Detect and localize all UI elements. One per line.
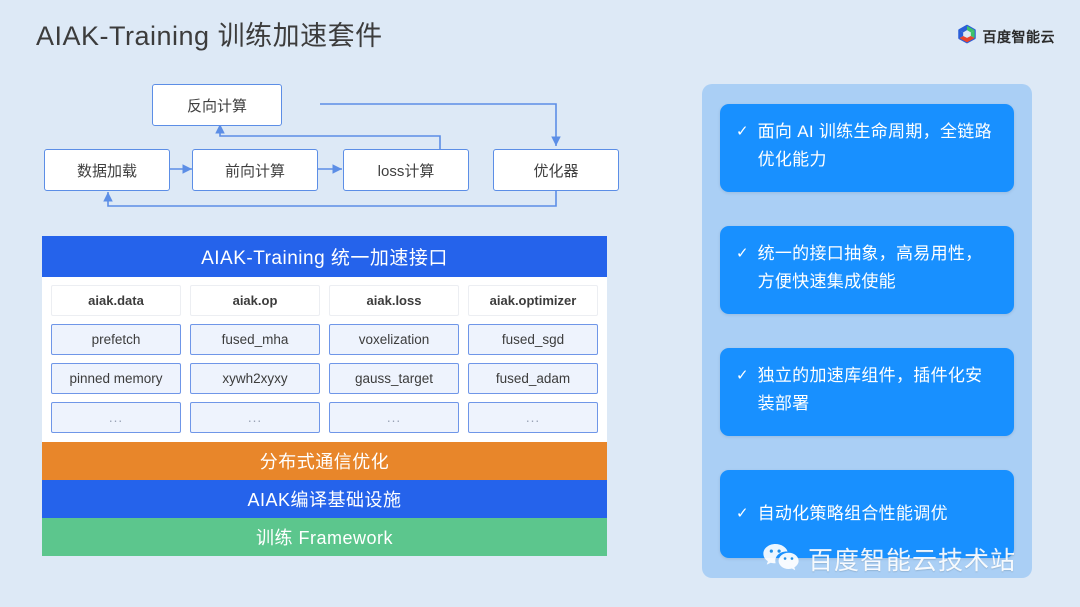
module-cell[interactable]: fused_adam [468,363,598,394]
stack-bar-label: AIAK-Training 统一加速接口 [201,243,448,270]
feature-panel: ✓ 面向 AI 训练生命周期，全链路优化能力 ✓ 统一的接口抽象，高易用性，方便… [702,84,1032,578]
stack-bar-label: AIAK编译基础设施 [247,486,401,512]
table-row: pinned memory xywh2xyxy gauss_target fus… [51,363,598,394]
column-header-aiak-loss: aiak.loss [329,285,459,316]
page-title: AIAK-Training 训练加速套件 [36,14,383,53]
module-cell[interactable]: fused_mha [190,324,320,355]
module-label: prefetch [92,332,141,347]
column-header-label: aiak.loss [367,293,422,308]
flow-box-label: loss计算 [378,160,435,181]
flow-box-loss: loss计算 [343,149,469,191]
baidu-cloud-hexagon-icon [957,24,977,49]
table-header-row: aiak.data aiak.op aiak.loss aiak.optimiz… [51,285,598,316]
brand-logo: 百度智能云 [957,24,1056,49]
column-header-aiak-op: aiak.op [190,285,320,316]
table-row: prefetch fused_mha voxelization fused_sg… [51,324,598,355]
feature-text: 面向 AI 训练生命周期，全链路优化能力 [758,118,998,174]
module-cell[interactable]: pinned memory [51,363,181,394]
module-label: fused_sgd [502,332,564,347]
flow-box-label: 反向计算 [187,95,247,116]
flow-box-optimizer: 优化器 [493,149,619,191]
module-label: xywh2xyxy [222,371,287,386]
module-cell-more[interactable]: ... [51,402,181,433]
column-header-aiak-optimizer: aiak.optimizer [468,285,598,316]
module-cell-more[interactable]: ... [190,402,320,433]
module-table: aiak.data aiak.op aiak.loss aiak.optimiz… [42,277,607,442]
flow-box-label: 数据加载 [77,160,137,181]
module-cell[interactable]: fused_sgd [468,324,598,355]
module-label: ... [387,410,401,425]
module-cell[interactable]: xywh2xyxy [190,363,320,394]
module-label: voxelization [359,332,430,347]
module-label: ... [526,410,540,425]
stack-bar-framework: 训练 Framework [42,518,607,556]
column-header-label: aiak.optimizer [490,293,577,308]
module-label: pinned memory [69,371,162,386]
feature-card[interactable]: ✓ 统一的接口抽象，高易用性，方便快速集成使能 [720,226,1014,314]
feature-text: 统一的接口抽象，高易用性，方便快速集成使能 [758,240,998,296]
check-icon: ✓ [736,362,749,390]
stack-bar-compiler: AIAK编译基础设施 [42,480,607,518]
aiak-stack: AIAK-Training 统一加速接口 aiak.data aiak.op a… [42,236,607,556]
module-label: ... [248,410,262,425]
stack-bar-api: AIAK-Training 统一加速接口 [42,236,607,277]
column-header-label: aiak.op [233,293,278,308]
feature-card[interactable]: ✓ 自动化策略组合性能调优 [720,470,1014,558]
module-cell[interactable]: voxelization [329,324,459,355]
module-label: fused_adam [496,371,570,386]
column-header-aiak-data: aiak.data [51,285,181,316]
check-icon: ✓ [736,118,749,146]
feature-card[interactable]: ✓ 独立的加速库组件，插件化安装部署 [720,348,1014,436]
feature-text: 自动化策略组合性能调优 [758,500,948,528]
flow-box-backward: 反向计算 [152,84,282,126]
flow-connectors [40,84,620,212]
module-label: gauss_target [355,371,433,386]
flow-box-label: 前向计算 [225,160,285,181]
feature-text: 独立的加速库组件，插件化安装部署 [758,362,998,418]
stack-bar-label: 分布式通信优化 [260,448,390,474]
module-label: fused_mha [222,332,289,347]
stack-bar-label: 训练 Framework [256,524,393,550]
module-cell[interactable]: gauss_target [329,363,459,394]
column-header-label: aiak.data [88,293,144,308]
feature-card[interactable]: ✓ 面向 AI 训练生命周期，全链路优化能力 [720,104,1014,192]
check-icon: ✓ [736,500,749,528]
table-row: ... ... ... ... [51,402,598,433]
check-icon: ✓ [736,240,749,268]
module-cell-more[interactable]: ... [329,402,459,433]
flow-box-dataload: 数据加载 [44,149,170,191]
brand-logo-text: 百度智能云 [983,27,1056,47]
stack-bar-communication: 分布式通信优化 [42,442,607,480]
flow-box-forward: 前向计算 [192,149,318,191]
flow-box-label: 优化器 [533,160,578,181]
module-label: ... [109,410,123,425]
module-cell[interactable]: prefetch [51,324,181,355]
module-cell-more[interactable]: ... [468,402,598,433]
training-flow-diagram: 反向计算 数据加载 前向计算 loss计算 优化器 [40,84,620,212]
